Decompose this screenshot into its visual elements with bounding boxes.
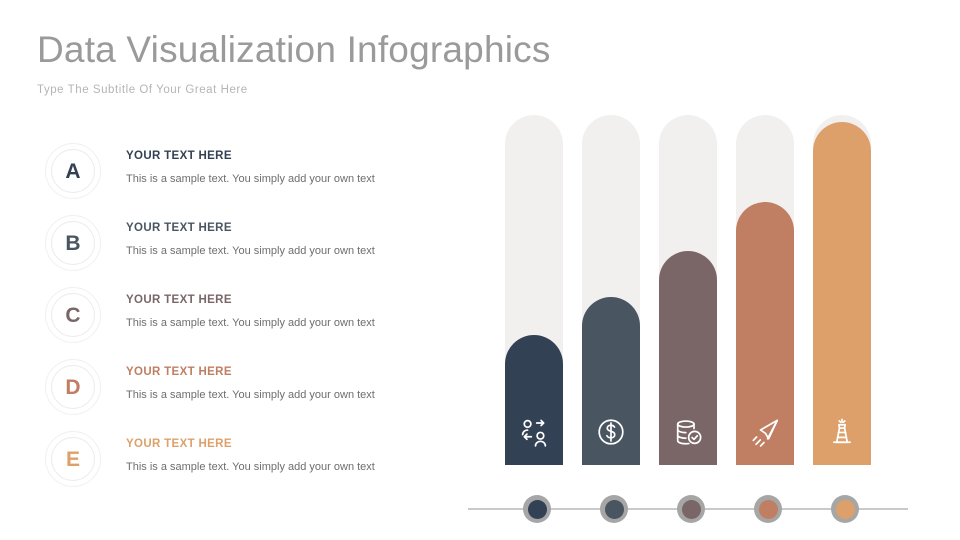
bar-column-d[interactable] xyxy=(736,115,794,465)
legend-badge-b: B xyxy=(45,215,101,271)
legend-badge-ring: B xyxy=(51,221,95,265)
timeline-dot-core xyxy=(682,500,701,519)
legend-item-a[interactable]: AYOUR TEXT HEREThis is a sample text. Yo… xyxy=(40,140,460,212)
timeline-dot-core xyxy=(836,500,855,519)
legend-badge-c: C xyxy=(45,287,101,343)
bar-column-a[interactable] xyxy=(505,115,563,465)
timeline-dot-b[interactable] xyxy=(600,495,628,523)
legend-badge-ring: A xyxy=(51,149,95,193)
legend-item-description: This is a sample text. You simply add yo… xyxy=(126,316,456,330)
legend-item-title: YOUR TEXT HERE xyxy=(126,221,456,235)
timeline-dot-c[interactable] xyxy=(677,495,705,523)
legend-item-title: YOUR TEXT HERE xyxy=(126,437,456,451)
legend-badge-ring: E xyxy=(51,437,95,481)
legend-badge-e: E xyxy=(45,431,101,487)
legend-item-description: This is a sample text. You simply add yo… xyxy=(126,172,456,186)
legend-item-description: This is a sample text. You simply add yo… xyxy=(126,460,456,474)
legend-badge-ring: C xyxy=(51,293,95,337)
legend-item-b[interactable]: BYOUR TEXT HEREThis is a sample text. Yo… xyxy=(40,212,460,284)
legend-badge-letter: E xyxy=(66,449,80,470)
legend-badge-letter: C xyxy=(65,305,80,326)
page-title: Data Visualization Infographics xyxy=(37,28,737,72)
timeline-dot-core xyxy=(528,500,547,519)
legend-badge-d: D xyxy=(45,359,101,415)
paper-plane-icon xyxy=(736,417,794,447)
bar-chart xyxy=(505,115,905,465)
user-exchange-icon xyxy=(505,417,563,447)
legend-badge-a: A xyxy=(45,143,101,199)
legend-text-block: YOUR TEXT HEREThis is a sample text. You… xyxy=(126,293,456,330)
bar-column-b[interactable] xyxy=(582,115,640,465)
legend-text-block: YOUR TEXT HEREThis is a sample text. You… xyxy=(126,437,456,474)
legend-badge-letter: A xyxy=(65,161,80,182)
legend-item-e[interactable]: EYOUR TEXT HEREThis is a sample text. Yo… xyxy=(40,428,460,500)
lighthouse-icon xyxy=(813,417,871,447)
legend-list: AYOUR TEXT HEREThis is a sample text. Yo… xyxy=(40,140,460,500)
legend-badge-ring: D xyxy=(51,365,95,409)
dollar-circle-icon xyxy=(582,417,640,447)
timeline-dot-a[interactable] xyxy=(523,495,551,523)
page-subtitle: Type The Subtitle Of Your Great Here xyxy=(37,84,737,96)
timeline xyxy=(468,495,908,525)
legend-badge-letter: D xyxy=(65,377,80,398)
legend-item-c[interactable]: CYOUR TEXT HEREThis is a sample text. Yo… xyxy=(40,284,460,356)
legend-item-title: YOUR TEXT HERE xyxy=(126,149,456,163)
legend-text-block: YOUR TEXT HEREThis is a sample text. You… xyxy=(126,221,456,258)
timeline-dot-e[interactable] xyxy=(831,495,859,523)
legend-item-description: This is a sample text. You simply add yo… xyxy=(126,388,456,402)
legend-item-description: This is a sample text. You simply add yo… xyxy=(126,244,456,258)
timeline-dot-d[interactable] xyxy=(754,495,782,523)
legend-badge-letter: B xyxy=(65,233,80,254)
bar-column-e[interactable] xyxy=(813,115,871,465)
legend-item-title: YOUR TEXT HERE xyxy=(126,293,456,307)
legend-text-block: YOUR TEXT HEREThis is a sample text. You… xyxy=(126,149,456,186)
legend-text-block: YOUR TEXT HEREThis is a sample text. You… xyxy=(126,365,456,402)
timeline-dot-core xyxy=(605,500,624,519)
bar-fill xyxy=(813,122,871,465)
database-check-icon xyxy=(659,417,717,447)
header: Data Visualization Infographics Type The… xyxy=(37,28,737,96)
bar-column-c[interactable] xyxy=(659,115,717,465)
legend-item-d[interactable]: DYOUR TEXT HEREThis is a sample text. Yo… xyxy=(40,356,460,428)
legend-item-title: YOUR TEXT HERE xyxy=(126,365,456,379)
timeline-dot-core xyxy=(759,500,778,519)
